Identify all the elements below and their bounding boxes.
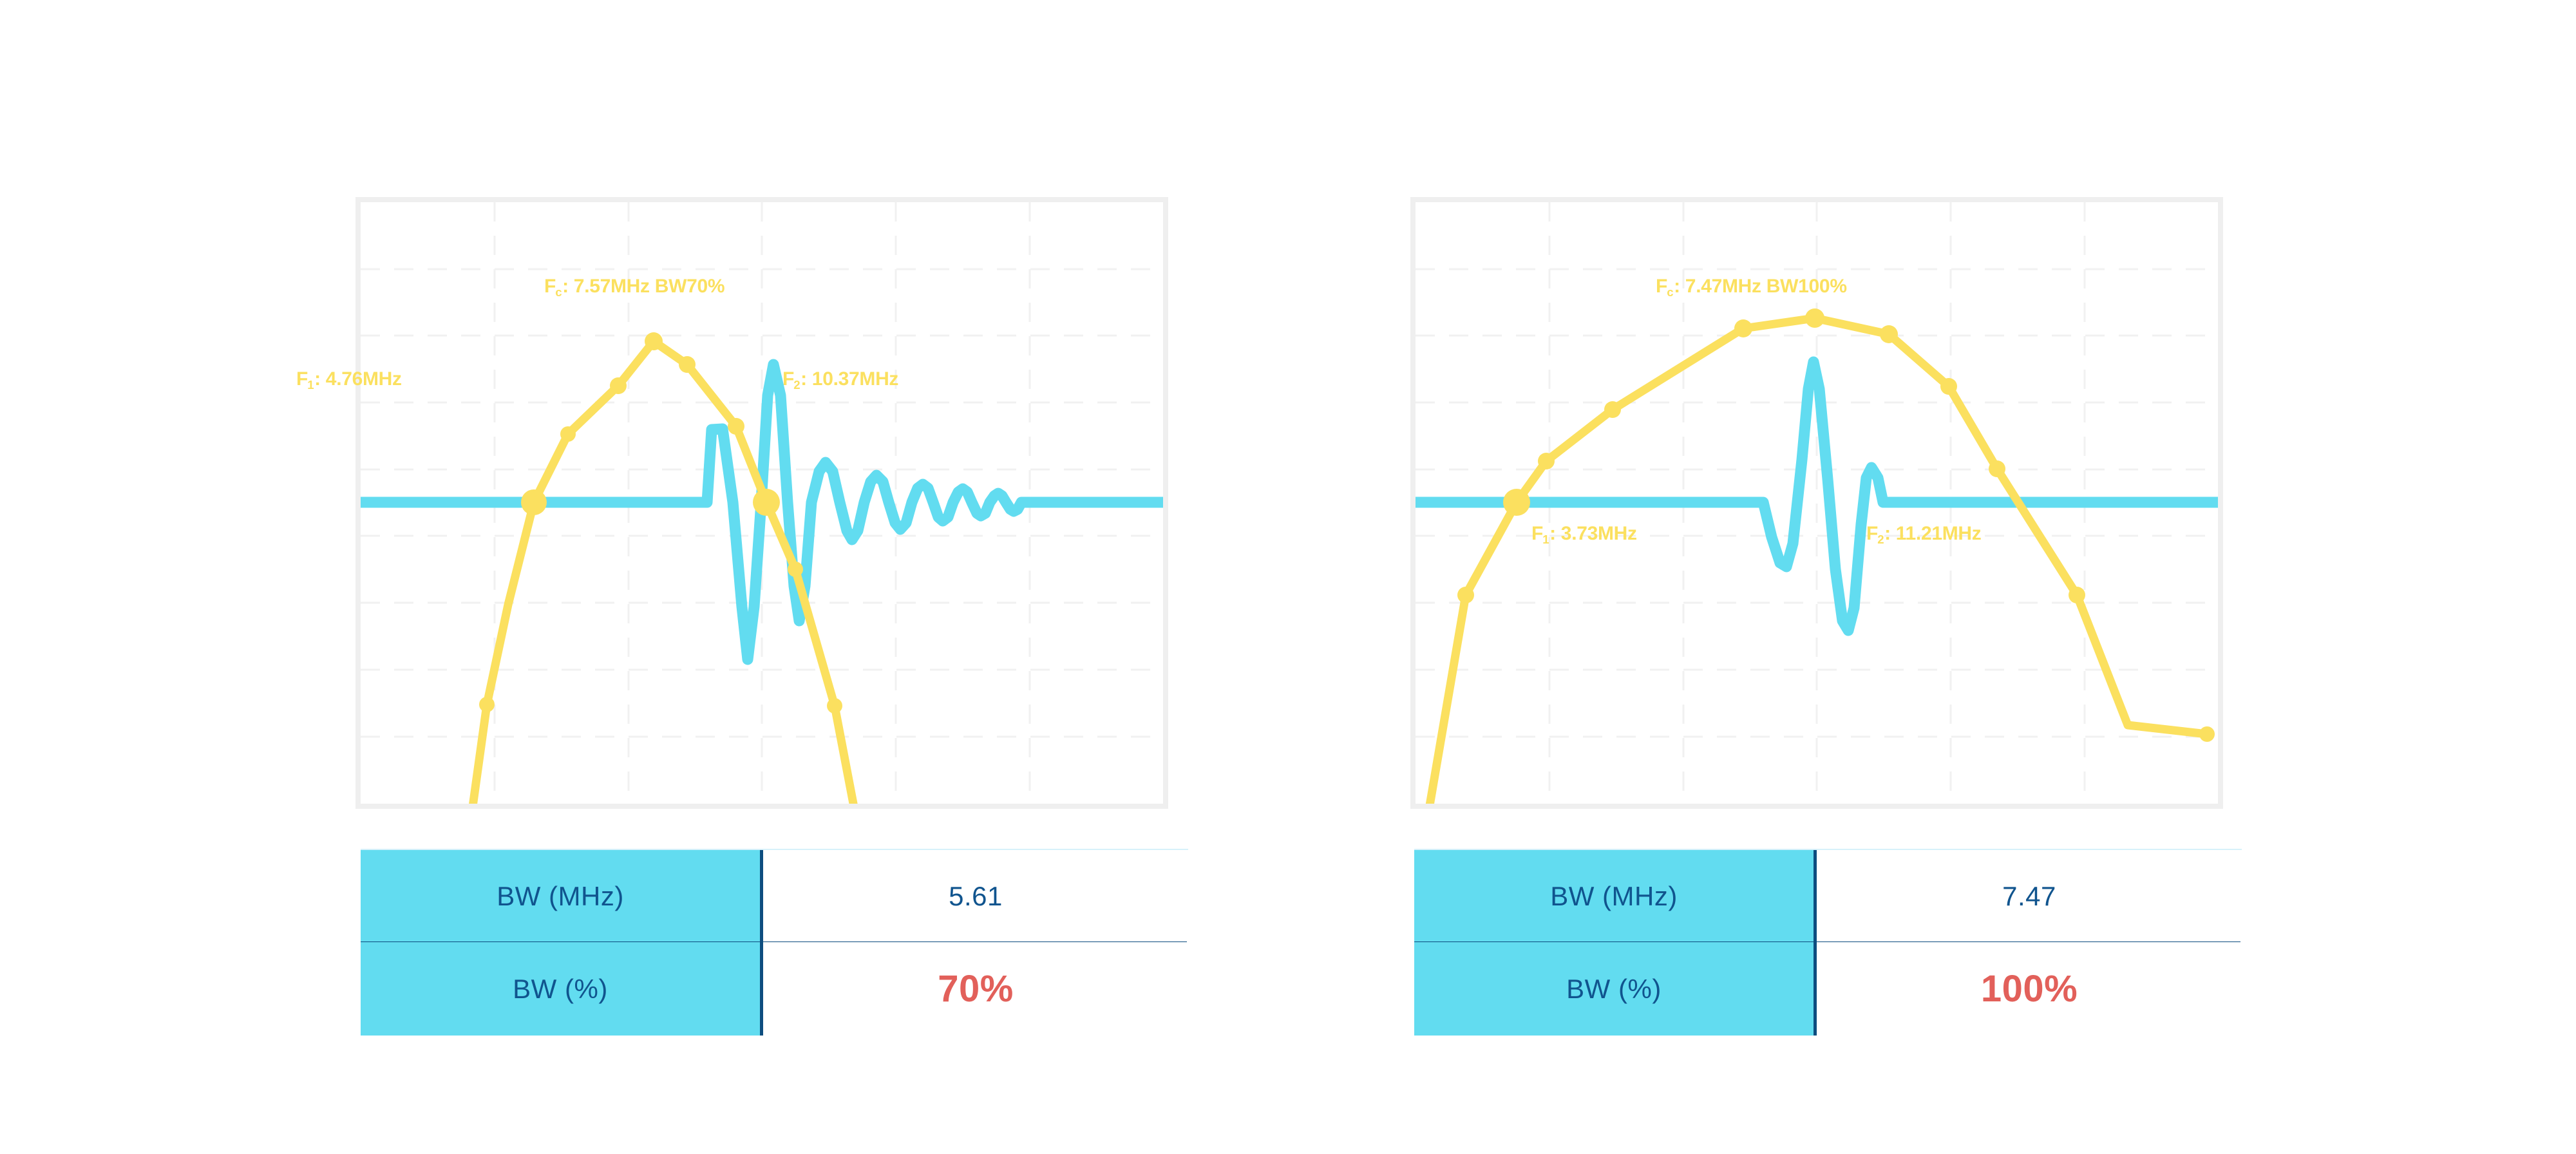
row-label-bw-mhz: BW (MHz) — [361, 850, 763, 942]
f1-symbol: F1 — [296, 368, 314, 390]
fc-symbol: Fc — [544, 276, 562, 297]
fc-subscript: c — [1667, 285, 1673, 299]
f1-value: : 3.73MHz — [1549, 523, 1637, 544]
bandwidth-70-table: BW (MHz) 5.61 BW (%) 70% — [361, 849, 1188, 1036]
bw-mhz-value: 7.47 — [2002, 881, 2056, 912]
f2-value: : 10.37MHz — [800, 368, 898, 390]
fc-subscript: c — [555, 285, 562, 299]
bandwidth-100-panel: Fc: 7.47MHz BW100% F1: 3.73MHz F2: 11.21… — [1410, 197, 2223, 809]
table-row: BW (MHz) 5.61 — [361, 849, 1188, 942]
bandwidth-70-panel: Fc: 7.57MHz BW70% F1: 4.76MHz F2: 10.37M… — [355, 197, 1168, 809]
row-label-bw-mhz: BW (MHz) — [1414, 850, 1817, 942]
upper-cutoff-label: F2: 11.21MHz — [1866, 524, 1981, 544]
bandwidth-100-table: BW (MHz) 7.47 BW (%) 100% — [1414, 849, 2242, 1036]
row-value-cell: 5.61 — [763, 850, 1188, 942]
row-value-cell: 70% — [763, 942, 1188, 1036]
fc-symbol: Fc — [1656, 276, 1674, 297]
upper-cutoff-label: F2: 10.37MHz — [782, 370, 898, 389]
f2-subscript: 2 — [1877, 533, 1884, 546]
bw-pct-value: 70% — [938, 967, 1014, 1010]
lower-cutoff-label: F1: 4.76MHz — [296, 370, 402, 389]
bw-mhz-value: 5.61 — [949, 881, 1003, 912]
f1-subscript: 1 — [307, 378, 314, 392]
f1-subscript: 1 — [1542, 533, 1549, 546]
bandwidth-70-chart — [361, 202, 1163, 804]
f2-subscript: 2 — [793, 378, 800, 392]
table-row: BW (%) 100% — [1414, 942, 2242, 1036]
f1-symbol: F1 — [1531, 523, 1549, 544]
f1-value: : 4.76MHz — [314, 368, 402, 390]
row-value-cell: 100% — [1817, 942, 2242, 1036]
f2-symbol: F2 — [1866, 523, 1884, 544]
f2-symbol: F2 — [782, 368, 800, 390]
table-row: BW (%) 70% — [361, 942, 1188, 1036]
row-label-bw-pct: BW (%) — [361, 942, 763, 1036]
fc-value: : 7.57MHz BW70% — [562, 276, 724, 297]
f2-value: : 11.21MHz — [1884, 523, 1981, 544]
table-row: BW (MHz) 7.47 — [1414, 849, 2242, 942]
lower-cutoff-label: F1: 3.73MHz — [1531, 524, 1637, 544]
bw-pct-value: 100% — [1981, 967, 2078, 1010]
fc-value: : 7.47MHz BW100% — [1674, 276, 1847, 297]
comparison-stage: Fc: 7.57MHz BW70% F1: 4.76MHz F2: 10.37M… — [0, 0, 2576, 1154]
row-label-bw-pct: BW (%) — [1414, 942, 1817, 1036]
row-value-cell: 7.47 — [1817, 850, 2242, 942]
center-frequency-label: Fc: 7.47MHz BW100% — [1656, 277, 1847, 296]
center-frequency-label: Fc: 7.57MHz BW70% — [544, 277, 724, 296]
